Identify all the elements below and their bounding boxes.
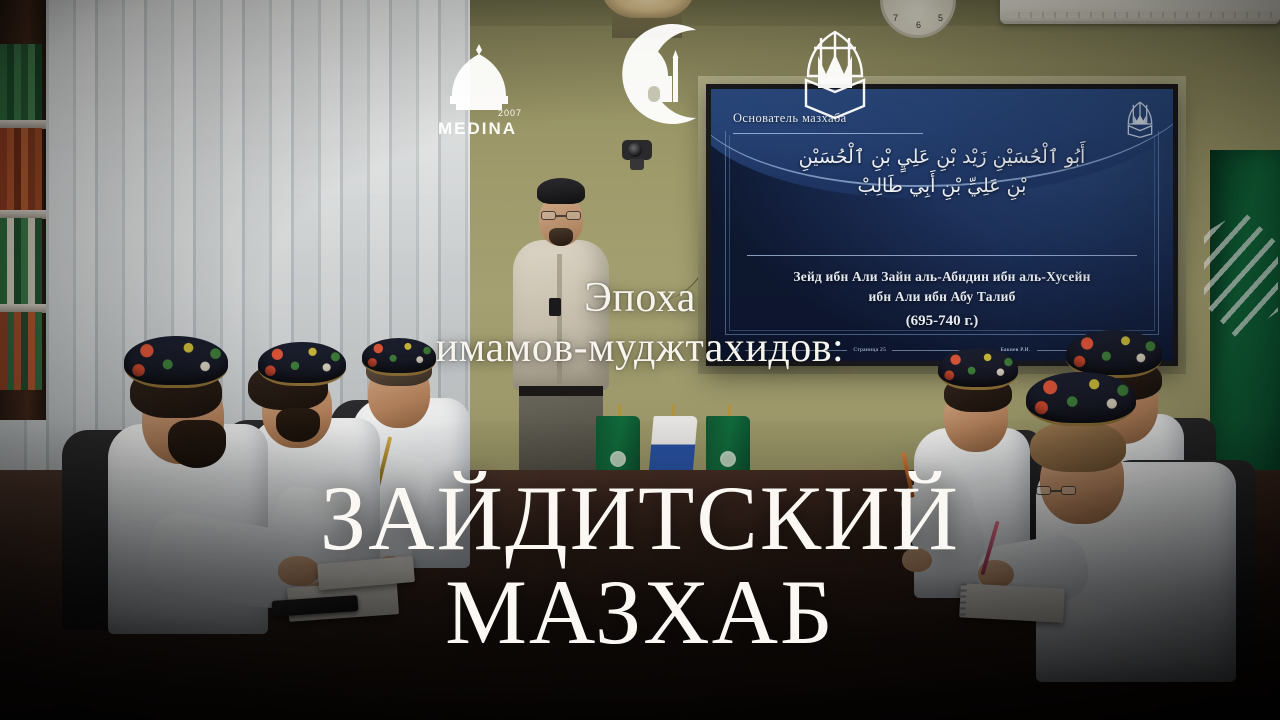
lapel-microphone <box>549 298 561 316</box>
book-row <box>0 218 42 304</box>
slide-arabic-line-1: أَبُو ٱلْحُسَيْنِ زَيْد بْنِ عَلِيٍ بْنِ… <box>741 143 1143 172</box>
book-row <box>0 44 42 120</box>
medina-logo-text: MEDINA <box>438 119 517 138</box>
clock-number-5: 5 <box>938 13 943 23</box>
ptz-camera-icon <box>620 140 654 170</box>
clock-number-7: 7 <box>893 13 898 23</box>
monogram-m <box>818 54 852 88</box>
video-frame: 7 6 5 <box>0 0 1280 720</box>
clock-number-6: 6 <box>916 20 921 30</box>
slide-arabic-text: أَبُو ٱلْحُسَيْنِ زَيْد بْنِ عَلِيٍ بْنِ… <box>741 143 1143 202</box>
skullcap <box>537 178 585 204</box>
slide: Основатель мазхаба أَبُو ٱلْحُسَيْنِ زَي… <box>711 89 1173 361</box>
slide-divider <box>747 255 1137 256</box>
presentation-screen[interactable]: Основатель мазхаба أَبُو ٱلْحُسَيْنِ زَي… <box>706 84 1178 366</box>
air-conditioner <box>1000 0 1280 24</box>
eyeglasses <box>541 211 581 220</box>
crescent-mosque-icon <box>600 22 708 126</box>
eyeglasses <box>1036 486 1076 495</box>
dome-book-monogram-icon <box>788 26 882 122</box>
slide-footer-page: Страница 25 <box>853 347 886 353</box>
svg-text:2007: 2007 <box>498 108 522 118</box>
slide-name-line-2: ибн Али ибн Абу Талиб <box>741 287 1143 307</box>
slide-arabic-line-2: بْنِ عَلِيِّ بْنِ أَبِي طَالِبْ <box>741 172 1143 201</box>
slide-years: (695-740 г.) <box>711 313 1173 330</box>
notebook <box>959 583 1065 622</box>
medina-logo-icon: 2007 MEDINA <box>430 42 530 138</box>
slide-name-text: Зейд ибн Али Зайн аль-Абидин ибн аль-Хус… <box>741 267 1143 308</box>
bookshelf <box>0 0 46 420</box>
book-row <box>0 312 42 390</box>
book-row <box>0 128 42 210</box>
slide-name-line-1: Зейд ибн Али Зайн аль-Абидин ибн аль-Хус… <box>741 267 1143 287</box>
slide-footer-author: Бакиев Р.И. <box>1001 347 1031 353</box>
